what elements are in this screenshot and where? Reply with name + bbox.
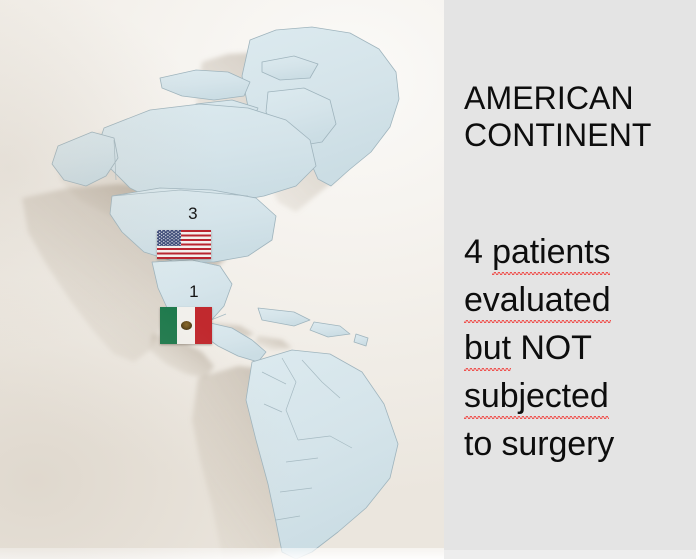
misspelled-word-patients: patients <box>492 228 610 276</box>
misspelled-word-subjected: subjected <box>464 372 609 420</box>
slide-root: 3 1 AMERICAN CONTINENT 4 patientsevaluat… <box>0 0 696 559</box>
body-line-1: 4 patients <box>464 228 696 276</box>
americas-map-graphic <box>0 0 444 559</box>
text-panel: AMERICAN CONTINENT 4 patientsevaluatedbu… <box>444 0 696 559</box>
body-line-5: to surgery <box>464 420 696 468</box>
us-flag-stars <box>157 230 181 246</box>
slide-body: 4 patientsevaluatedbut NOTsubjectedto su… <box>464 228 696 468</box>
marker-usa[interactable]: 3 <box>157 205 211 259</box>
us-flag-icon <box>157 230 211 259</box>
region-cuba <box>258 308 310 326</box>
mexico-flag-icon <box>160 307 212 344</box>
misspelled-word-evaluated: evaluated <box>464 276 611 324</box>
body-line-4: subjected <box>464 372 696 420</box>
misspelled-word-but: but <box>464 324 511 372</box>
region-lesser-antilles <box>354 334 368 346</box>
text-panel-bottom-strip <box>444 550 696 559</box>
mexico-flag-green-band <box>160 307 177 344</box>
region-hispaniola <box>310 322 350 337</box>
body-line-3: but NOT <box>464 324 696 372</box>
mexico-flag-red-band <box>195 307 212 344</box>
map-panel: 3 1 <box>0 0 444 559</box>
mexico-flag-emblem <box>181 321 192 330</box>
us-flag-canton <box>157 230 181 246</box>
slide-title: AMERICAN CONTINENT <box>464 80 696 154</box>
marker-usa-label: 3 <box>183 205 203 222</box>
marker-mexico[interactable]: 1 <box>160 283 212 345</box>
marker-mexico-label: 1 <box>184 283 204 300</box>
body-line-2: evaluated <box>464 276 696 324</box>
